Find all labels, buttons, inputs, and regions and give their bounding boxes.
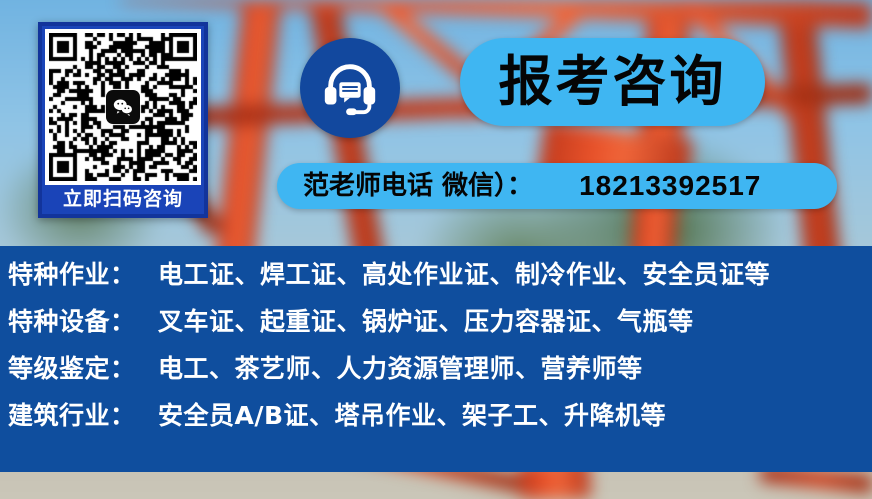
title-pill[interactable]: 报考咨询: [460, 38, 765, 126]
info-row-value: 安全员A/B证、塔吊作业、架子工、升降机等: [158, 403, 666, 428]
info-row-label: 建筑行业：: [8, 403, 158, 428]
info-row-label: 等级鉴定：: [8, 356, 158, 381]
info-row-label: 特种设备：: [8, 309, 158, 334]
headset-support-badge: [300, 38, 400, 138]
contact-label: 范老师电话 微信）：: [303, 173, 533, 199]
contact-pill[interactable]: 范老师电话 微信）： 18213392517: [277, 163, 837, 209]
info-row-value: 叉车证、起重证、锅炉证、压力容器证、气瓶等: [158, 309, 694, 334]
info-row: 建筑行业： 安全员A/B证、塔吊作业、架子工、升降机等: [8, 403, 872, 450]
info-row: 特种作业： 电工证、焊工证、高处作业证、制冷作业、安全员证等: [8, 262, 872, 309]
qr-caption: 立即扫码咨询: [42, 185, 204, 214]
contact-phone-number[interactable]: 18213392517: [579, 172, 761, 200]
info-row-value: 电工证、焊工证、高处作业证、制冷作业、安全员证等: [158, 262, 770, 287]
headset-support-icon: [319, 57, 381, 119]
promo-banner: 立即扫码咨询 报考咨询 范老师电话 微信）： 18213392517 特种作业：…: [0, 0, 872, 499]
title-pill-label: 报考咨询: [499, 55, 727, 109]
certification-info-panel: 特种作业： 电工证、焊工证、高处作业证、制冷作业、安全员证等 特种设备： 叉车证…: [0, 246, 872, 472]
wechat-logo-icon: [106, 90, 140, 124]
info-row: 等级鉴定： 电工、茶艺师、人力资源管理师、营养师等: [8, 356, 872, 403]
info-row: 特种设备： 叉车证、起重证、锅炉证、压力容器证、气瓶等: [8, 309, 872, 356]
info-row-value: 电工、茶艺师、人力资源管理师、营养师等: [158, 356, 643, 381]
qr-code-card[interactable]: 立即扫码咨询: [38, 22, 208, 218]
info-row-label: 特种作业：: [8, 262, 158, 287]
qr-code-image[interactable]: [45, 29, 201, 185]
